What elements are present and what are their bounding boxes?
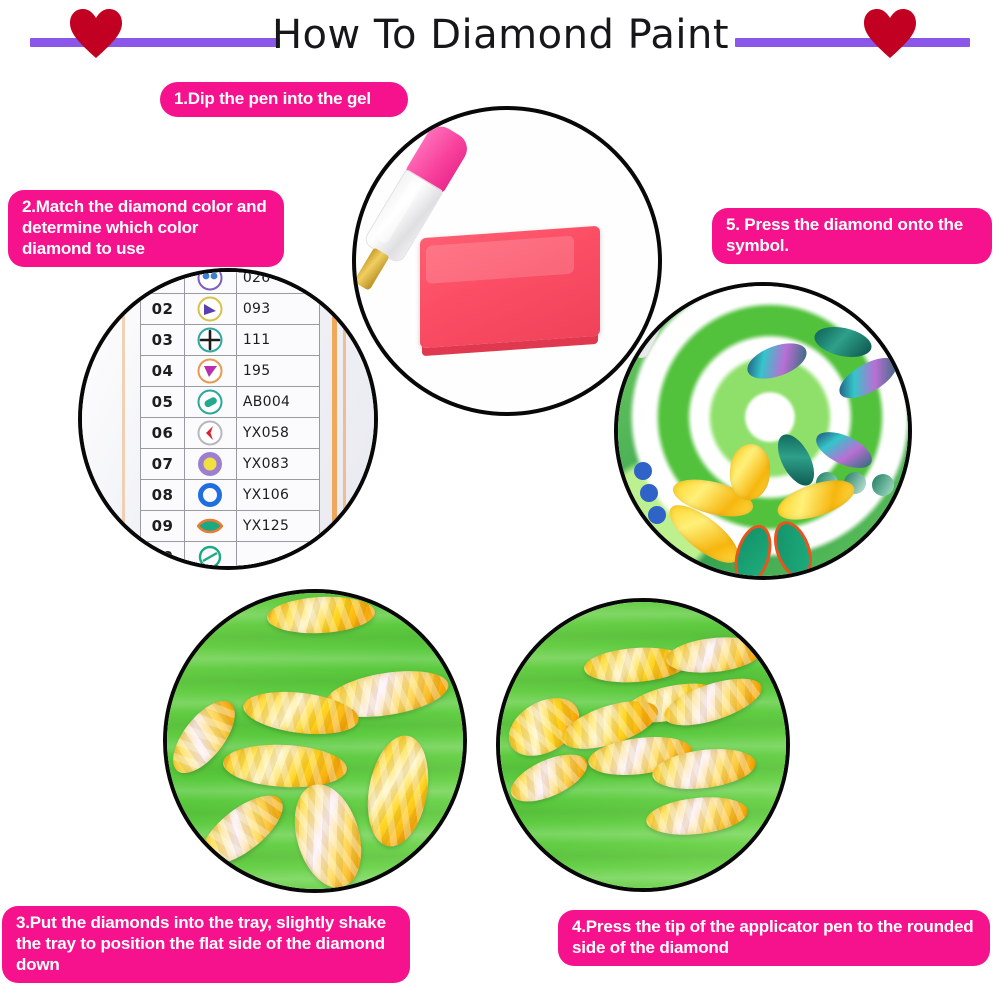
step-4-label: 4.Press the tip of the applicator pen to… [558,910,990,966]
legend-row-number: 04 [141,356,185,387]
diamond-gem [504,745,594,811]
legend-row-symbol-icon [185,294,237,325]
legend-row-number: 05 [141,387,185,418]
legend-row: 07YX083 [141,449,320,480]
legend-row-code: 026 [236,268,319,294]
step-3-label: 3.Put the diamonds into the tray, slight… [2,906,410,983]
legend-rows: 0102602093031110419505AB00406YX05807YX08… [141,268,320,570]
legend-row: 01026 [141,268,320,294]
legend-row: 08YX106 [141,480,320,511]
legend-row-number: 02 [141,294,185,325]
mandala-canvas-scene [618,286,908,576]
legend-row-number: 07 [141,449,185,480]
legend-row: 04195 [141,356,320,387]
legend-row: 05AB004 [141,387,320,418]
legend-row-number: 08 [141,480,185,511]
legend-row-number: 06 [141,418,185,449]
legend-row-number: 03 [141,325,185,356]
legend-row-code: YX083 [236,449,319,480]
legend-row-symbol-icon [185,511,237,542]
sheet-orange-line-2 [343,272,346,566]
legend-row-symbol-icon [185,325,237,356]
sheet-orange-line [332,272,337,566]
legend-row-code [236,542,319,571]
legend-row-code: 093 [236,294,319,325]
legend-row-code: YX125 [236,511,319,542]
legend-row-symbol-icon [185,268,237,294]
diamond-tray [500,602,786,888]
photo-step-4-press-pen-tip-to-diamond [496,598,790,892]
gel-pad-scene [356,110,658,412]
symbol-dot [634,462,652,480]
legend-row-symbol-icon [185,387,237,418]
diamond-tray [167,593,463,889]
symbol-dot [640,484,658,502]
legend-row: 02093 [141,294,320,325]
diamond-gem [644,793,749,839]
photo-step-3-diamonds-in-tray [163,589,467,893]
infographic-canvas: How To Diamond Paint 0102602093031110419… [0,0,1001,1001]
legend-row-number: 09 [141,511,185,542]
legend-row-number: 01 [141,268,185,294]
diamond-gem-round [872,474,894,496]
legend-row-code: YX058 [236,418,319,449]
legend-row: 06YX058 [141,418,320,449]
diamond-gem [360,731,437,851]
legend-row-code: 111 [236,325,319,356]
legend-row-code: 195 [236,356,319,387]
diamond-gem [266,594,376,636]
pen-barrel [496,598,543,645]
legend-row-code: YX106 [236,480,319,511]
legend-row-symbol-icon [185,480,237,511]
page-title: How To Diamond Paint [0,8,1001,62]
diamond-gem [222,742,348,790]
header: How To Diamond Paint [0,0,1001,78]
legend-row: 03111 [141,325,320,356]
symbol-dot [648,506,666,524]
legend-row: 09YX125 [141,511,320,542]
diamond-color-legend-table: 0102602093031110419505AB00406YX05807YX08… [140,268,320,570]
legend-row-code: AB004 [236,387,319,418]
sheet-margin-line [122,272,125,566]
pen-tip [496,632,500,679]
step-5-label: 5. Press the diamond onto the symbol. [712,208,992,264]
legend-row-symbol-icon [185,542,237,571]
diamond-gem [284,777,373,893]
photo-step-1-dip-pen-in-gel [352,106,662,416]
legend-row-symbol-icon [185,356,237,387]
legend-row-symbol-icon [185,418,237,449]
legend-row-number: 10 [141,542,185,571]
diamond-gem [659,669,767,735]
step-2-label: 2.Match the diamond color and determine … [8,190,284,267]
legend-row-symbol-icon [185,449,237,480]
photo-step-2-color-legend: 0102602093031110419505AB00406YX05807YX08… [78,268,378,570]
applicator-pen [496,598,551,684]
diamond-gem [190,783,293,876]
gel-pad [420,226,600,349]
legend-sheet: 0102602093031110419505AB00406YX05807YX08… [82,272,374,566]
photo-step-5-press-diamond-on-symbol [614,282,912,580]
legend-row: 10 [141,542,320,571]
step-1-label: 1.Dip the pen into the gel [160,82,408,117]
